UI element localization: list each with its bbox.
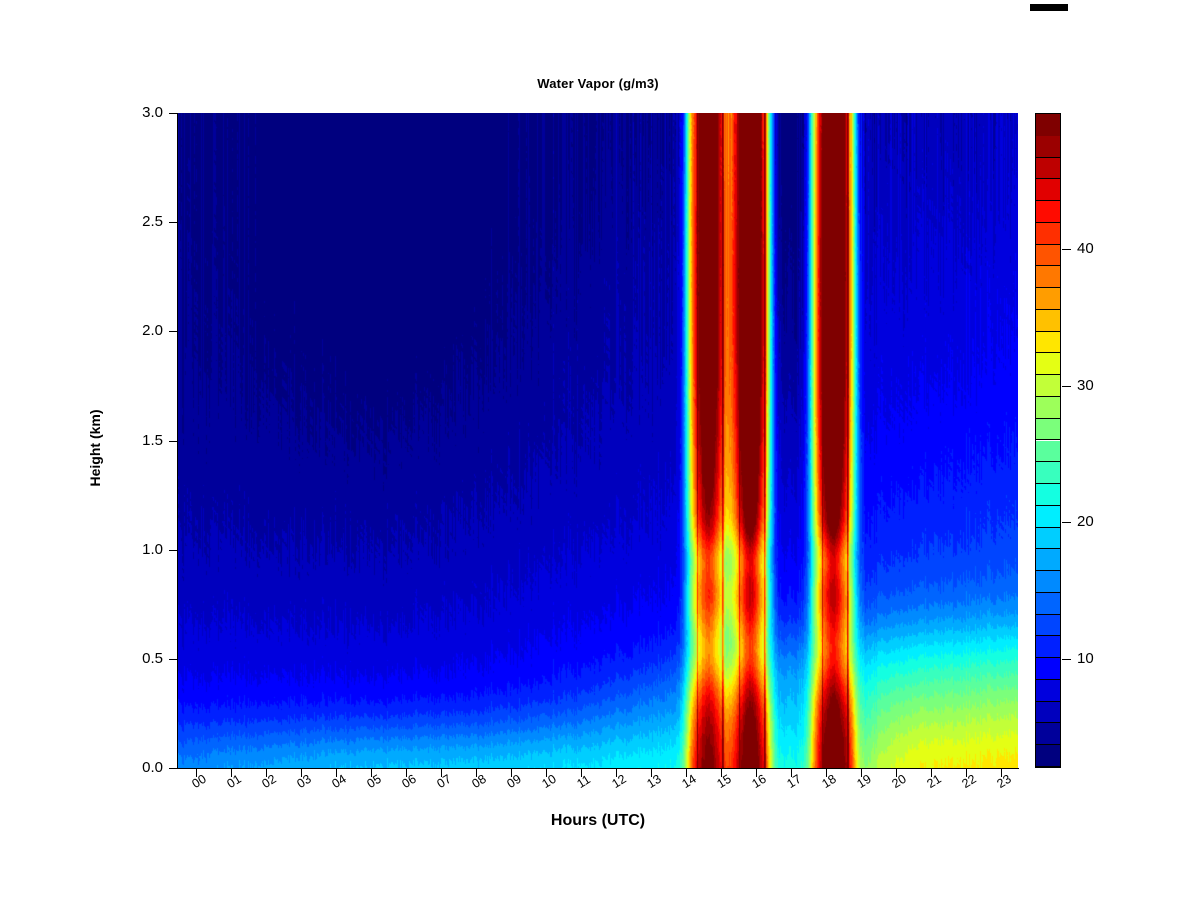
x-tick-label: 11 [575,773,593,790]
colorbar-tick [1062,386,1071,387]
y-tick [169,331,177,332]
y-tick-label: 1.0 [119,542,163,557]
colorbar-cell [1036,223,1060,245]
y-tick-label: 2.0 [119,323,163,338]
colorbar-cell [1036,397,1060,419]
colorbar-cell [1036,179,1060,201]
x-tick-label: 18 [820,773,838,791]
colorbar-cell [1036,615,1060,637]
colorbar-tick [1062,659,1071,660]
x-tick-label: 16 [750,773,768,791]
x-axis-line [178,768,1019,769]
y-tick [169,113,177,114]
colorbar-cell [1036,266,1060,288]
colorbar-cell [1036,462,1060,484]
page-title: Water Vapor (g/m3) [178,76,1018,91]
x-tick-label: 13 [645,773,663,791]
colorbar-cell [1036,745,1060,767]
colorbar-tick-label: 10 [1077,651,1094,666]
x-tick-label: 23 [995,773,1013,791]
x-tick-label: 07 [435,773,453,791]
colorbar-cell [1036,310,1060,332]
colorbar-cell [1036,288,1060,310]
colorbar-cell [1036,658,1060,680]
colorbar-tick-label: 20 [1077,514,1094,529]
colorbar-cell [1036,332,1060,354]
colorbar-cell [1036,636,1060,658]
colorbar-cell [1036,375,1060,397]
y-axis-title: Height (km) [87,348,103,548]
colorbar-cell [1036,723,1060,745]
x-tick-label: 06 [400,773,418,791]
colorbar-cell [1036,419,1060,441]
x-tick-label: 14 [680,773,698,791]
colorbar-cell [1036,201,1060,223]
y-tick-label: 0.5 [119,651,163,666]
colorbar-cell [1036,506,1060,528]
y-tick [169,768,177,769]
x-tick-label: 00 [190,773,208,791]
y-tick [169,550,177,551]
figure-root: Water Vapor (g/m3) 0.00.51.01.52.02.53.0… [0,0,1200,900]
colorbar-cell [1036,702,1060,724]
colorbar-cell [1036,571,1060,593]
colorbar-tick-label: 30 [1077,378,1094,393]
colorbar-tick [1062,249,1071,250]
x-tick-label: 15 [715,773,733,791]
y-tick [169,441,177,442]
colorbar-cell [1036,484,1060,506]
colorbar-cell [1036,680,1060,702]
x-tick-label: 02 [260,773,278,791]
x-tick-label: 21 [925,773,943,791]
colorbar-cell [1036,528,1060,550]
y-tick-label: 0.0 [119,760,163,775]
x-tick-label: 08 [470,773,488,791]
colorbar-tick [1062,522,1071,523]
y-tick-label: 2.5 [119,214,163,229]
x-tick-label: 22 [960,773,978,791]
x-tick-label: 10 [540,773,558,791]
x-tick-label: 20 [890,773,908,791]
colorbar-tick-label: 40 [1077,241,1094,256]
y-tick [169,222,177,223]
colorbar-cell [1036,158,1060,180]
colorbar-cell [1036,441,1060,463]
colorbar [1035,113,1061,768]
colorbar-cell [1036,593,1060,615]
colorbar-cell [1036,114,1060,136]
colorbar-cell [1036,245,1060,267]
top-right-black-bar [1030,4,1068,11]
heatmap-plot-area [178,113,1018,768]
x-axis-title: Hours (UTC) [178,812,1018,830]
colorbar-cell [1036,353,1060,375]
y-axis-line [177,113,178,769]
heatmap-canvas [178,113,1018,768]
x-tick-label: 04 [330,773,348,791]
y-tick-label: 1.5 [119,433,163,448]
x-tick-label: 12 [610,773,628,791]
colorbar-cell [1036,136,1060,158]
y-tick-label: 3.0 [119,105,163,120]
x-tick-label: 19 [855,773,873,791]
y-tick [169,659,177,660]
x-tick-label: 03 [295,773,313,791]
x-tick-label: 01 [225,773,243,791]
x-tick-label: 09 [505,773,523,791]
colorbar-cell [1036,549,1060,571]
x-tick-label: 05 [365,773,383,791]
x-tick-label: 17 [785,773,803,791]
